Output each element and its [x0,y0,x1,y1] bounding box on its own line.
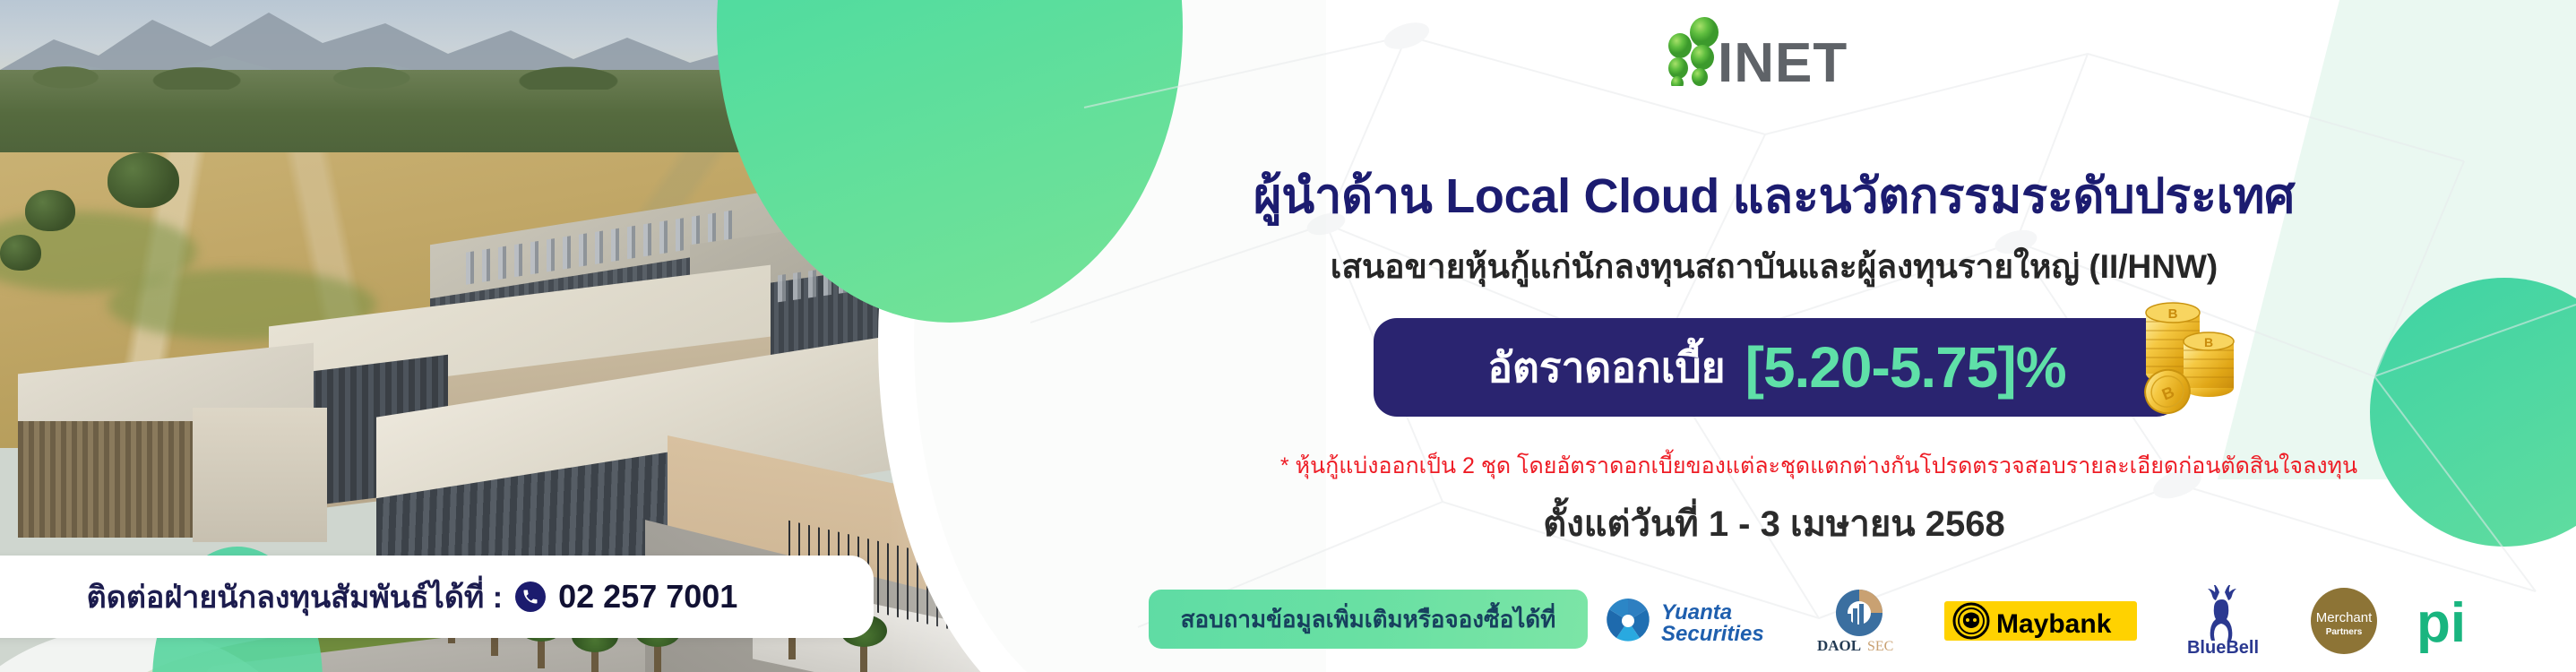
yuanta-line2: Securities [1661,622,1764,646]
daol-circle-icon [1836,590,1882,636]
daol-line1: DAOL [1817,637,1861,654]
yuanta-line1: Yuanta [1661,600,1732,625]
partner-logo-bluebell[interactable]: BlueBell [2173,585,2273,657]
partner-logo-pi[interactable]: pi [2415,588,2483,654]
inquiry-cta-button[interactable]: สอบถามข้อมูลเพิ่มเติมหรือจองซื้อได้ที่ [1149,590,1588,649]
partner-logos: Yuanta Securities DAOL SEC [1604,578,2572,663]
svg-text:B: B [2168,306,2178,322]
partner-logo-yuanta[interactable]: Yuanta Securities [1604,593,1774,649]
daol-line2: SEC [1867,639,1893,654]
inet-bubbles-logo-icon: INET [1662,16,1967,86]
svg-text:B: B [2204,335,2213,349]
page-title: ผู้นำด้าน Local Cloud และนวัตกรรมระดับปร… [1075,157,2473,234]
inquiry-cta-label: สอบถามข้อมูลเพิ่มเติมหรือจองซื้อได้ที่ [1181,601,1556,638]
banner-content: INET ผู้นำด้าน Local Cloud และนวัตกรรมระ… [1075,0,2576,672]
partner-logo-merchant[interactable]: Merchant Partners [2309,586,2379,656]
tree-icon [0,235,41,271]
yuanta-star-icon [1606,599,1650,643]
merchant-line2: Partners [2326,627,2363,637]
palm-tree-icon [591,638,599,672]
bluebell-deer-icon [2208,585,2236,641]
partner-logo-daolsec[interactable]: DAOL SEC [1810,587,1908,655]
tree-icon [25,190,75,231]
gold-coins-icon: B B B [2137,291,2240,417]
disclaimer-note: * หุ้นกู้แบ่งออกเป็น 2 ชุด โดยอัตราดอกเบ… [1075,448,2563,484]
tree-icon [108,152,179,208]
maybank-wordmark: Maybank [1996,609,2112,639]
investor-relations-contact: ติดต่อฝ่ายนักลงทุนสัมพันธ์ได้ที่ : 02 25… [0,556,874,638]
building-louvers [18,421,197,538]
palm-tree-icon [654,633,661,672]
phone-icon [515,582,546,612]
page-subtitle: เสนอขายหุ้นกู้แก่นักลงทุนสถาบันและผู้ลงท… [1075,240,2473,293]
palm-tree-icon [860,633,867,672]
inet-logo-text: INET [1718,32,1848,86]
merchant-line1: Merchant [2316,610,2373,625]
partner-logo-maybank[interactable]: Maybank [1944,598,2137,644]
building-block [193,408,327,542]
inet-bond-offering-banner: INET ผู้นำด้าน Local Cloud และนวัตกรรมระ… [0,0,2576,672]
interest-rate-box: อัตราดอกเบี้ย [5.20-5.75]% [1374,318,2180,417]
inet-logo: INET [1662,16,1967,86]
contact-label: ติดต่อฝ่ายนักลงทุนสัมพันธ์ได้ที่ : [87,573,503,621]
bluebell-wordmark: BlueBell [2187,638,2259,657]
offering-dates: ตั้งแต่วันที่ 1 - 3 เมษายน 2568 [1075,495,2473,552]
contact-phone: 02 257 7001 [558,578,737,616]
interest-rate-label: อัตราดอกเบี้ย [1487,335,1725,401]
pi-wordmark-icon: pi [2417,592,2466,654]
interest-rate-value: [5.20-5.75]% [1745,334,2066,401]
maybank-tiger-icon [1954,604,1988,638]
